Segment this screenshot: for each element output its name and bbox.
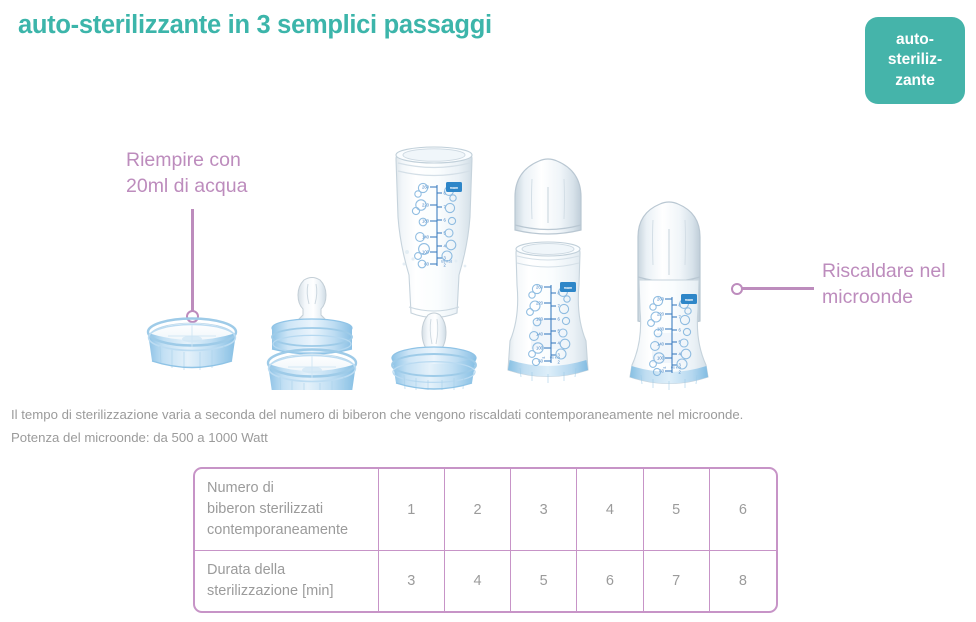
row-label-bottle-count: Numero di biberon sterilizzati contempor…	[195, 469, 379, 551]
step-4-bottle-with-cap-above: 260220 180140 10060 87 65 43 2 ml US fl.…	[508, 159, 588, 383]
svg-text:mam: mam	[564, 286, 572, 290]
cell-count-1: 1	[379, 469, 445, 551]
auto-sterilizing-badge: auto- steriliz- zante	[865, 17, 965, 104]
explanatory-text: Il tempo di sterilizzazione varia a seco…	[11, 404, 743, 449]
sterilizer-steps-illustration: 260220 180140 10060 87 65 43 2 US fl.oz	[0, 125, 976, 390]
svg-text:140: 140	[422, 235, 430, 240]
badge-line-3: zante	[895, 71, 935, 91]
cell-duration-5: 7	[644, 551, 710, 611]
badge-line-1: auto-	[896, 30, 934, 50]
step-5-closed-bottle: 260220 180140 10060 87 65 43 2 ml US fl.…	[630, 202, 708, 390]
svg-text:260: 260	[422, 185, 430, 190]
cell-duration-4: 6	[577, 551, 643, 611]
svg-text:ml: ml	[663, 365, 666, 369]
cell-duration-3: 5	[511, 551, 577, 611]
cell-count-4: 4	[577, 469, 643, 551]
sterilization-time-table: Numero di biberon sterilizzati contempor…	[193, 467, 778, 613]
svg-text:mam: mam	[685, 298, 693, 302]
svg-text:US fl.oz: US fl.oz	[441, 260, 453, 264]
cell-count-6: 6	[710, 469, 776, 551]
cell-count-3: 3	[511, 469, 577, 551]
cell-count-5: 5	[644, 469, 710, 551]
step-2-teat-and-ring	[268, 278, 356, 391]
table-row: Durata della sterilizzazione [min] 3 4 5…	[195, 551, 776, 611]
page-title: auto-sterilizzante in 3 semplici passagg…	[18, 11, 492, 40]
table-row: Numero di biberon sterilizzati contempor…	[195, 469, 776, 551]
svg-text:ml: ml	[542, 355, 545, 359]
svg-text:mam: mam	[450, 186, 458, 190]
step-1-base-container	[148, 319, 236, 371]
cell-count-2: 2	[445, 469, 511, 551]
cell-duration-6: 8	[710, 551, 776, 611]
row-label-duration: Durata della sterilizzazione [min]	[195, 551, 379, 611]
step-3-inverted-bottle: 260220 180140 10060 87 65 43 2 US fl.oz	[392, 147, 476, 390]
cell-duration-1: 3	[379, 551, 445, 611]
cell-duration-2: 4	[445, 551, 511, 611]
badge-line-2: steriliz-	[888, 50, 942, 70]
